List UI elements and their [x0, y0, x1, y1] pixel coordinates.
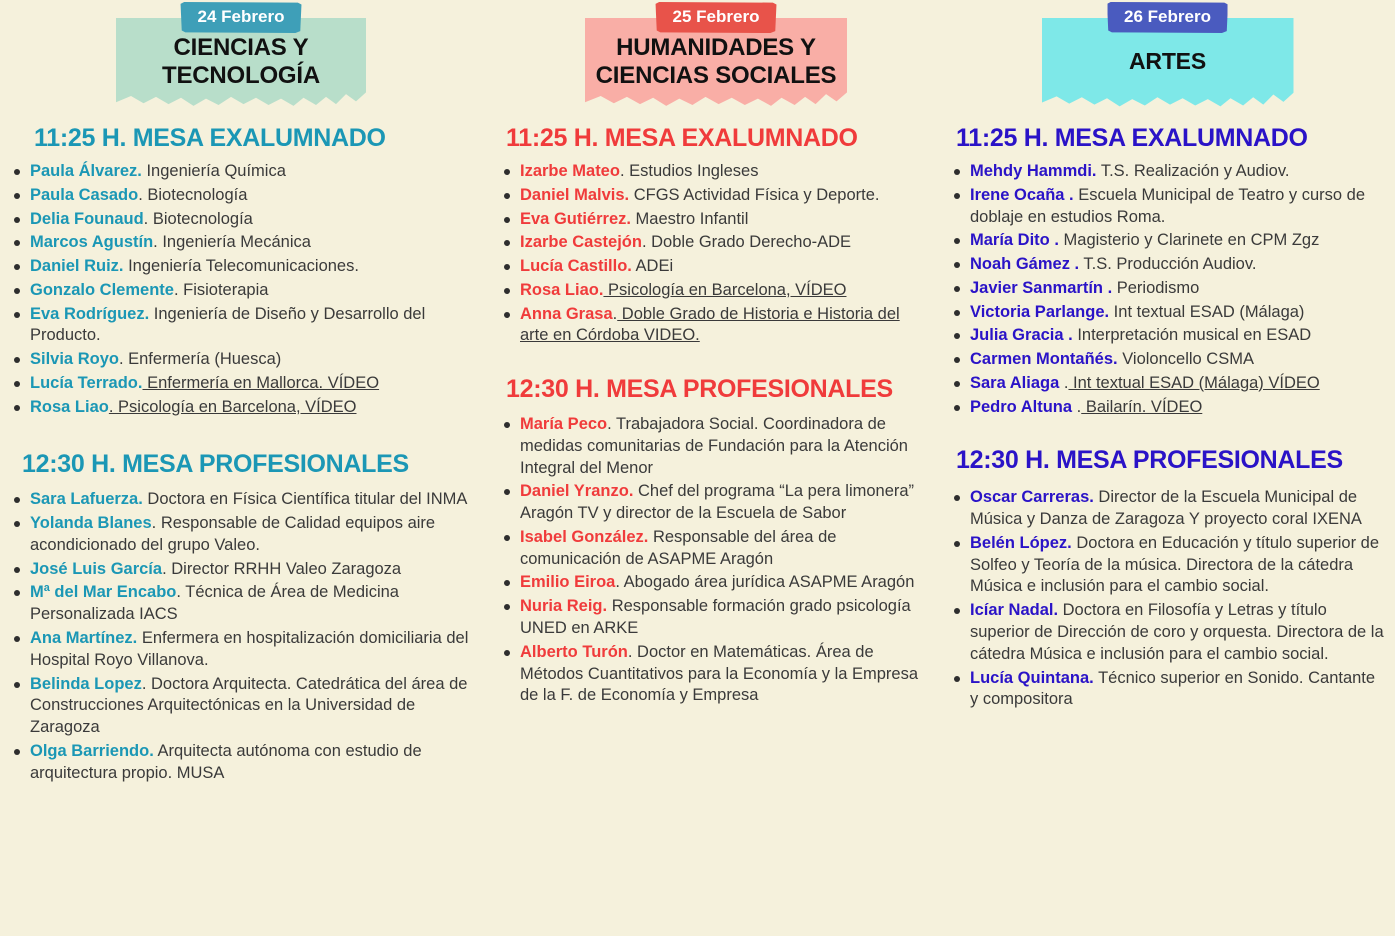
person-name: Mª del Mar Encabo: [30, 583, 176, 601]
list-item: Eva Gutiérrez. Maestro Infantil: [500, 209, 932, 231]
person-name: José Luis García: [30, 560, 162, 578]
list-item: Rosa Liao. Psicología en Barcelona, VÍDE…: [10, 397, 472, 419]
person-desc: . Abogado área jurídica ASAPME Aragón: [615, 573, 914, 591]
person-name: Rosa Liao.: [520, 281, 603, 299]
list-item: Daniel Yranzo. Chef del programa “La per…: [500, 481, 932, 525]
person-desc: T.S. Producción Audiov.: [1079, 255, 1256, 273]
person-desc: Periodismo: [1112, 279, 1199, 297]
people-list-exalumnado-1: Paula Álvarez. Ingeniería Química Paula …: [10, 161, 472, 418]
list-item: Mehdy Hammdi. T.S. Realización y Audiov.: [950, 161, 1385, 183]
person-name: Belén López.: [970, 534, 1072, 552]
list-item: Silvia Royo. Enfermería (Huesca): [10, 349, 472, 371]
person-name: Silvia Royo: [30, 350, 119, 368]
section-heading-profesionales-3: 12:30 H. MESA PROFESIONALES: [956, 446, 1385, 475]
column-header-1: CIENCIAS Y TECNOLOGÍA 24 Febrero: [10, 0, 472, 112]
list-item: Irene Ocaña . Escuela Municipal de Teatr…: [950, 185, 1385, 229]
person-name: Lucía Quintana.: [970, 669, 1094, 687]
day-column-humanidades-ciencias-sociales: HUMANIDADES Y CIENCIAS SOCIALES 25 Febre…: [480, 0, 940, 936]
person-name: Lucía Castillo.: [520, 257, 632, 275]
date-badge-2: 25 Febrero: [656, 2, 777, 33]
list-item: Paula Casado. Biotecnología: [10, 185, 472, 207]
list-item: Anna Grasa. Doble Grado de Historia e Hi…: [500, 304, 932, 348]
day-column-ciencias-tecnologia: CIENCIAS Y TECNOLOGÍA 24 Febrero 11:25 H…: [0, 0, 480, 936]
section-heading-exalumnado-2: 11:25 H. MESA EXALUMNADO: [506, 124, 932, 153]
person-name: Izarbe Mateo: [520, 162, 620, 180]
person-name: Sara Aliaga: [970, 374, 1059, 392]
date-badge-3: 26 Febrero: [1107, 2, 1228, 33]
person-name: Izarbe Castejón: [520, 233, 642, 251]
column-header-2: HUMANIDADES Y CIENCIAS SOCIALES 25 Febre…: [500, 0, 932, 112]
person-name: Irene Ocaña .: [970, 186, 1074, 204]
list-item: Paula Álvarez. Ingeniería Química: [10, 161, 472, 183]
person-name: Julia Gracia .: [970, 326, 1073, 344]
person-name: Delia Founaud: [30, 210, 144, 228]
list-item: Ana Martínez. Enfermera en hospitalizaci…: [10, 628, 472, 672]
person-name: Olga Barriendo.: [30, 742, 154, 760]
list-item: Belinda Lopez. Doctora Arquitecta. Cated…: [10, 674, 472, 739]
column-title-3: ARTES: [1048, 48, 1288, 75]
person-name: Isabel González.: [520, 528, 648, 546]
person-name: Javier Sanmartín .: [970, 279, 1112, 297]
person-desc: Interpretación musical en ESAD: [1073, 326, 1311, 344]
person-name: María Dito .: [970, 231, 1059, 249]
list-item: Alberto Turón. Doctor en Matemáticas. Ár…: [500, 642, 932, 707]
person-desc: Magisterio y Clarinete en CPM Zgz: [1059, 231, 1319, 249]
person-name: Lucía Terrado.: [30, 374, 142, 392]
person-name: Daniel Ruiz.: [30, 257, 124, 275]
person-desc: Ingeniería Telecomunicaciones.: [124, 257, 359, 275]
list-item: Lucía Castillo. ADEi: [500, 256, 932, 278]
list-item: Noah Gámez . T.S. Producción Audiov.: [950, 254, 1385, 276]
person-name: Emilio Eiroa: [520, 573, 615, 591]
list-item: Javier Sanmartín . Periodismo: [950, 278, 1385, 300]
day-column-artes: ARTES 26 Febrero 11:25 H. MESA EXALUMNAD…: [940, 0, 1395, 936]
person-desc: ADEi: [632, 257, 673, 275]
person-desc: . Director RRHH Valeo Zaragoza: [162, 560, 401, 578]
person-name: Victoria Parlange.: [970, 303, 1109, 321]
program-board: CIENCIAS Y TECNOLOGÍA 24 Febrero 11:25 H…: [0, 0, 1395, 936]
person-desc: .: [1072, 398, 1081, 416]
person-name: Carmen Montañés.: [970, 350, 1118, 368]
person-name: Noah Gámez .: [970, 255, 1079, 273]
person-name: Mehdy Hammdi.: [970, 162, 1097, 180]
person-desc: Maestro Infantil: [631, 210, 748, 228]
date-badge-1: 24 Febrero: [181, 2, 302, 33]
video-link[interactable]: Psicología en Barcelona, VÍDEO: [603, 281, 846, 299]
person-name: Nuria Reig.: [520, 597, 607, 615]
list-item: Julia Gracia . Interpretación musical en…: [950, 325, 1385, 347]
person-desc: T.S. Realización y Audiov.: [1097, 162, 1290, 180]
list-item: Delia Founaud. Biotecnología: [10, 209, 472, 231]
person-desc: . Biotecnología: [138, 186, 247, 204]
list-item: Olga Barriendo. Arquitecta autónoma con …: [10, 741, 472, 785]
person-desc: . Estudios Ingleses: [620, 162, 759, 180]
people-list-exalumnado-3: Mehdy Hammdi. T.S. Realización y Audiov.…: [950, 161, 1385, 418]
person-desc: Int textual ESAD (Málaga): [1109, 303, 1304, 321]
person-name: Pedro Altuna: [970, 398, 1072, 416]
person-name: Marcos Agustín: [30, 233, 153, 251]
section-heading-profesionales-2: 12:30 H. MESA PROFESIONALES: [506, 375, 932, 404]
list-item: María Peco. Trabajadora Social. Coordina…: [500, 414, 932, 479]
list-item: Oscar Carreras. Director de la Escuela M…: [950, 487, 1385, 531]
person-name: Paula Álvarez.: [30, 162, 142, 180]
list-item: Carmen Montañés. Violoncello CSMA: [950, 349, 1385, 371]
list-item: Marcos Agustín. Ingeniería Mecánica: [10, 232, 472, 254]
person-name: Alberto Turón: [520, 643, 628, 661]
person-desc: Doctora en Física Científica titular del…: [143, 490, 468, 508]
section-heading-profesionales-1: 12:30 H. MESA PROFESIONALES: [22, 450, 472, 479]
list-item: Sara Lafuerza. Doctora en Física Científ…: [10, 489, 472, 511]
video-link[interactable]: . Psicología en Barcelona, VÍDEO: [109, 398, 357, 416]
list-item: Yolanda Blanes. Responsable de Calidad e…: [10, 513, 472, 557]
people-list-profesionales-2: María Peco. Trabajadora Social. Coordina…: [500, 414, 932, 707]
person-name: Oscar Carreras.: [970, 488, 1094, 506]
list-item: Isabel González. Responsable del área de…: [500, 527, 932, 571]
list-item: Pedro Altuna . Bailarín. VÍDEO: [950, 397, 1385, 419]
person-name: María Peco: [520, 415, 607, 433]
person-desc: Violoncello CSMA: [1118, 350, 1254, 368]
column-header-3: ARTES 26 Febrero: [950, 0, 1385, 112]
list-item: Izarbe Castejón. Doble Grado Derecho-ADE: [500, 232, 932, 254]
list-item: Mª del Mar Encabo. Técnica de Área de Me…: [10, 582, 472, 626]
list-item: Daniel Malvis. CFGS Actividad Física y D…: [500, 185, 932, 207]
person-name: Yolanda Blanes: [30, 514, 152, 532]
person-name: Sara Lafuerza.: [30, 490, 143, 508]
list-item: Gonzalo Clemente. Fisioterapia: [10, 280, 472, 302]
video-link[interactable]: Enfermería en Mallorca. VÍDEO: [142, 374, 379, 392]
section-heading-exalumnado-3: 11:25 H. MESA EXALUMNADO: [956, 124, 1385, 153]
person-desc: Ingeniería Química: [142, 162, 286, 180]
person-desc: . Biotecnología: [144, 210, 253, 228]
list-item: Rosa Liao. Psicología en Barcelona, VÍDE…: [500, 280, 932, 302]
person-name: Paula Casado: [30, 186, 138, 204]
person-desc: . Doble Grado Derecho-ADE: [642, 233, 851, 251]
person-name: Anna Grasa: [520, 305, 613, 323]
person-desc: . Fisioterapia: [174, 281, 268, 299]
people-list-profesionales-1: Sara Lafuerza. Doctora en Física Científ…: [10, 489, 472, 784]
list-item: José Luis García. Director RRHH Valeo Za…: [10, 559, 472, 581]
list-item: Eva Rodríguez. Ingeniería de Diseño y De…: [10, 304, 472, 348]
video-link[interactable]: Int textual ESAD (Málaga) VÍDEO: [1068, 374, 1319, 392]
list-item: Belén López. Doctora en Educación y títu…: [950, 533, 1385, 598]
section-heading-exalumnado-1: 11:25 H. MESA EXALUMNADO: [34, 124, 472, 153]
video-link[interactable]: Bailarín. VÍDEO: [1081, 398, 1202, 416]
person-name: Gonzalo Clemente: [30, 281, 174, 299]
person-desc: . Enfermería (Huesca): [119, 350, 281, 368]
person-name: Belinda Lopez: [30, 675, 142, 693]
list-item: Daniel Ruiz. Ingeniería Telecomunicacion…: [10, 256, 472, 278]
person-name: Eva Gutiérrez.: [520, 210, 631, 228]
list-item: Victoria Parlange. Int textual ESAD (Mál…: [950, 302, 1385, 324]
list-item: María Dito . Magisterio y Clarinete en C…: [950, 230, 1385, 252]
list-item: Izarbe Mateo. Estudios Ingleses: [500, 161, 932, 183]
person-name: Icíar Nadal.: [970, 601, 1058, 619]
list-item: Icíar Nadal. Doctora en Filosofía y Letr…: [950, 600, 1385, 665]
people-list-exalumnado-2: Izarbe Mateo. Estudios Ingleses Daniel M…: [500, 161, 932, 347]
people-list-profesionales-3: Oscar Carreras. Director de la Escuela M…: [950, 487, 1385, 711]
list-item: Nuria Reig. Responsable formación grado …: [500, 596, 932, 640]
person-name: Daniel Malvis.: [520, 186, 629, 204]
person-name: Rosa Liao: [30, 398, 109, 416]
person-name: Daniel Yranzo.: [520, 482, 633, 500]
person-name: Ana Martínez.: [30, 629, 137, 647]
list-item: Lucía Quintana. Técnico superior en Soni…: [950, 668, 1385, 712]
list-item: Emilio Eiroa. Abogado área jurídica ASAP…: [500, 572, 932, 594]
person-name: Eva Rodríguez.: [30, 305, 149, 323]
person-desc: . Ingeniería Mecánica: [153, 233, 311, 251]
list-item: Sara Aliaga . Int textual ESAD (Málaga) …: [950, 373, 1385, 395]
person-desc: CFGS Actividad Física y Deporte.: [629, 186, 879, 204]
list-item: Lucía Terrado. Enfermería en Mallorca. V…: [10, 373, 472, 395]
column-title-2: HUMANIDADES Y CIENCIAS SOCIALES: [591, 34, 841, 91]
column-title-1: CIENCIAS Y TECNOLOGÍA: [122, 34, 360, 91]
